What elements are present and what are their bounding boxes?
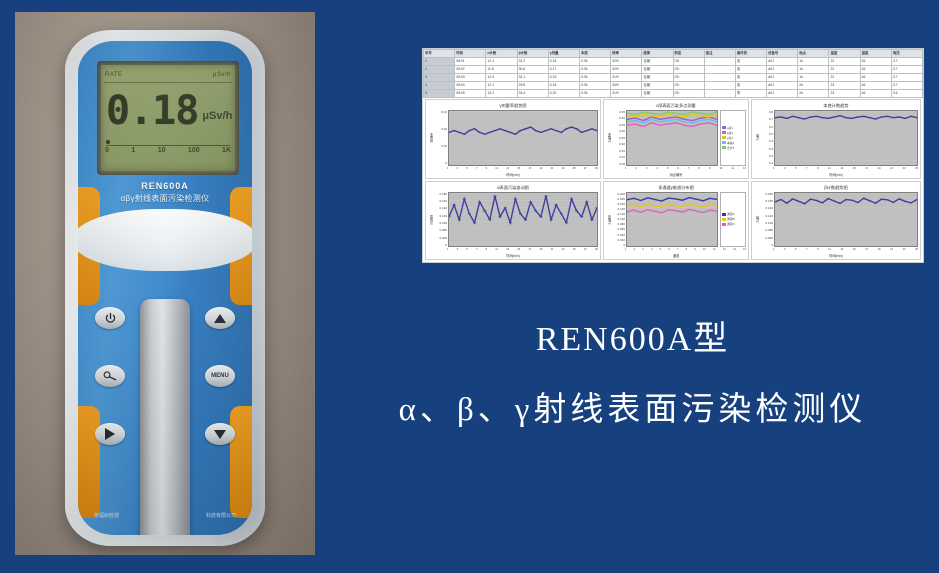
- chart-data-point: [700, 123, 702, 124]
- chart-data-point: [827, 198, 830, 199]
- chart-y-ticks: 0.1800.1600.1400.1200.1000.0800.0600: [761, 192, 774, 248]
- table-cell: 0.18: [548, 82, 579, 90]
- chart-y-tick: 0.5: [761, 132, 773, 136]
- chart-data-point: [642, 112, 644, 113]
- chart-y-tick: 0.1: [761, 161, 773, 165]
- chart-data-point: [695, 210, 697, 211]
- chart-data-point: [821, 202, 824, 203]
- table-cell: A01: [767, 82, 798, 90]
- device-model-label: REN600A: [78, 181, 252, 191]
- chart-data-point: [688, 208, 690, 209]
- chart-data-point: [509, 132, 512, 133]
- chart-y-axis-label: 污染值: [428, 192, 435, 248]
- table-row: 308:0312.932.10.190.0531%合格OK-张A011#2246…: [424, 74, 923, 82]
- chart-y-axis-label: 计数率: [606, 110, 613, 166]
- chart-y-tick: 0.20: [435, 127, 447, 131]
- chart-data-point: [667, 114, 669, 115]
- chart-data-point: [797, 117, 800, 118]
- menu-button[interactable]: MENU: [205, 365, 235, 387]
- chart-y-tick: 0.10: [435, 144, 447, 148]
- table-cell: 0.20: [548, 90, 579, 98]
- table-cell: A01: [767, 58, 798, 66]
- table-cell: -: [704, 90, 735, 98]
- chart-data-point: [821, 117, 824, 118]
- table-cell: 3.7: [891, 66, 922, 74]
- chart-legend-swatch: [722, 136, 726, 139]
- chart-legend-label: 本底4: [727, 141, 734, 145]
- chart-legend-item: γ点3: [722, 136, 744, 140]
- table-cell: 3: [424, 74, 455, 82]
- table-header-cell: 操作员: [735, 50, 766, 58]
- table-cell: 2: [424, 66, 455, 74]
- chart-data-point: [493, 130, 496, 131]
- lcd-screen: RATE μSv/h 0.18 μSv/h 0 1 10: [101, 65, 235, 171]
- table-row: 208:0211.830.60.170.0532%合格OK-张A011#2245…: [424, 66, 923, 74]
- chart-y-tick: 0.7: [761, 117, 773, 121]
- chart-data-point: [642, 120, 644, 121]
- chart-data-point: [633, 209, 635, 210]
- chart-legend-swatch: [722, 131, 726, 134]
- chart-data-point: [868, 117, 871, 118]
- chart-body: 计数率0.2000.1800.1600.1400.1200.1000.0800.…: [606, 192, 746, 248]
- table-header-cell: 序号: [424, 50, 455, 58]
- chart-data-point: [833, 200, 836, 201]
- chart-data-point: [585, 130, 588, 131]
- chart-y-tick: 0.140: [761, 206, 773, 210]
- chart-data-point: [642, 114, 644, 115]
- table-cell: 合格: [642, 74, 673, 82]
- chart-data-point: [580, 132, 583, 133]
- chart-legend-item: 通道B: [722, 217, 744, 221]
- table-header-cell: 电压: [891, 50, 922, 58]
- device-brand-plate: REN600A αβγ射线表面污染检测仪: [78, 181, 252, 204]
- chart-data-point: [468, 130, 471, 131]
- chart-data-point: [850, 118, 853, 119]
- chart-data-point: [514, 134, 517, 135]
- table-cell: A01: [767, 74, 798, 82]
- chart-data-point: [659, 125, 661, 126]
- chart-data-point: [634, 114, 636, 115]
- lcd-scale-0: 0: [105, 147, 109, 159]
- chart-data-point: [886, 116, 889, 117]
- chart-plot-area: [448, 192, 598, 248]
- table-cell: 合格: [642, 66, 673, 74]
- chart-data-point: [803, 118, 806, 119]
- chart-data-point: [468, 213, 471, 214]
- lcd-scale-4: 1K: [222, 147, 231, 159]
- table-header-cell: 判定: [673, 50, 704, 58]
- chart-legend-swatch: [722, 213, 726, 216]
- table-cell: 22: [829, 58, 860, 66]
- chart-data-point: [898, 198, 901, 199]
- chart-y-tick: 0.140: [613, 207, 625, 211]
- chart-y-tick: 0: [613, 243, 625, 247]
- chart-data-point: [892, 117, 895, 118]
- table-header-cell: α计数: [486, 50, 517, 58]
- device-waist-band: [78, 209, 252, 271]
- play-button[interactable]: [95, 423, 125, 445]
- table-cell: 23: [829, 90, 860, 98]
- chart-data-point: [691, 126, 693, 127]
- chart-data-point: [483, 134, 486, 135]
- chart-data-point: [580, 216, 583, 217]
- chart-series-line: [627, 123, 717, 127]
- chart-series-svg: [627, 111, 717, 165]
- table-cell: 2#: [798, 82, 829, 90]
- chart-data-point: [708, 122, 710, 123]
- table-cell: 2#: [798, 90, 829, 98]
- lcd-status-row: RATE μSv/h: [105, 68, 231, 81]
- chart-data-point: [478, 201, 481, 202]
- chart-data-point: [700, 120, 702, 121]
- table-cell: 张: [735, 66, 766, 74]
- table-cell: 22: [829, 66, 860, 74]
- chart-data-point: [691, 122, 693, 123]
- chart-y-axis-label: 计数率: [606, 192, 613, 248]
- chart-data-point: [514, 198, 517, 199]
- chart-data-point: [702, 211, 704, 212]
- lcd-bezel: RATE μSv/h 0.18 μSv/h 0 1 10: [97, 61, 239, 175]
- search-button[interactable]: [95, 365, 125, 387]
- table-header-cell: 地点: [798, 50, 829, 58]
- chart-x-axis-label: 时间(min): [426, 253, 600, 259]
- chart-data-point: [565, 222, 568, 223]
- chart-data-point: [674, 204, 676, 205]
- chart-legend-item: β点2: [722, 131, 744, 135]
- chart-y-tick: 0.30: [435, 110, 447, 114]
- table-header-cell: 备注: [704, 50, 735, 58]
- chart-legend-label: 通道C: [727, 222, 735, 226]
- chart-x-axis-label: 通道: [604, 253, 748, 259]
- chart-data-point: [683, 121, 685, 122]
- table-row: 508:0513.233.40.200.0531%合格OK-李A012#2346…: [424, 90, 923, 98]
- chart-body: 计数0.80.70.60.50.40.30.20.1: [754, 110, 918, 166]
- chart-series-line: [627, 112, 717, 114]
- chart-data-point: [634, 120, 636, 121]
- lcd-scale-1: 1: [131, 147, 135, 159]
- table-cell: 张: [735, 74, 766, 82]
- chart-data-point: [695, 204, 697, 205]
- chart-data-point: [504, 130, 507, 131]
- chart-data-point: [809, 116, 812, 117]
- chart-legend: 通道A通道B通道C: [720, 192, 746, 248]
- device-handle: [140, 299, 190, 535]
- chart-data-point: [570, 198, 573, 199]
- table-cell: 23: [829, 82, 860, 90]
- table-cell: 5: [424, 90, 455, 98]
- chart-data-point: [785, 202, 788, 203]
- table-cell: 32%: [611, 66, 642, 74]
- table-cell: 12.1: [486, 82, 517, 90]
- chart-data-point: [590, 128, 593, 129]
- chart-y-tick: 0.35: [613, 123, 625, 127]
- chart-data-point: [640, 206, 642, 207]
- table-cell: 29.8: [517, 82, 548, 90]
- table-cell: 11.8: [486, 66, 517, 74]
- chart-data-point: [458, 219, 461, 220]
- up-button[interactable]: [205, 307, 235, 329]
- chart-data-point: [651, 115, 653, 116]
- power-icon: [104, 312, 117, 325]
- chart-y-ticks: 0.1800.1600.1400.1200.1000.0800.0600: [435, 192, 448, 248]
- table-header-cell: β计数: [517, 50, 548, 58]
- chart-legend-swatch: [722, 146, 726, 149]
- chart-y-tick: 0.8: [761, 110, 773, 114]
- chart-data-point: [463, 134, 466, 135]
- chart-legend-label: γ点3: [727, 136, 733, 140]
- table-row: 408:0412.129.80.180.0533%合格OK-张A012#2346…: [424, 82, 923, 90]
- chart-data-point: [667, 112, 669, 113]
- chart-y-tick: 0.15: [613, 149, 625, 153]
- chart-data-point: [779, 198, 782, 199]
- power-button[interactable]: [95, 307, 125, 329]
- table-cell: 32.1: [517, 74, 548, 82]
- chart-title: α/β表面污染多点测量: [604, 103, 748, 109]
- chart-data-point: [702, 200, 704, 201]
- chart-data-point: [565, 128, 568, 129]
- chart-data-point: [839, 202, 842, 203]
- chart-x-axis-label: 时间(min): [752, 253, 920, 259]
- chart-data-point: [519, 213, 522, 214]
- chart-data-point: [504, 207, 507, 208]
- chart-data-point: [904, 200, 907, 201]
- chart-y-tick: 0.05: [613, 162, 625, 166]
- chart-data-point: [651, 119, 653, 120]
- table-cell: OK: [673, 82, 704, 90]
- chart-legend-item: 通道C: [722, 222, 744, 226]
- chart-legend-swatch: [722, 141, 726, 144]
- chart-legend: α点1β点2γ点3本底4合计5: [720, 110, 746, 166]
- chart-y-tick: 0.060: [761, 236, 773, 240]
- chart-data-point: [478, 132, 481, 133]
- chart-data-point: [560, 213, 563, 214]
- chart-legend-item: 通道A: [722, 212, 744, 216]
- chart-data-point: [473, 128, 476, 129]
- chart-data-point: [529, 126, 532, 127]
- chart-plot-area: [448, 110, 598, 166]
- chart-title: γ剂量率趋势图: [426, 103, 600, 109]
- table-cell: A01: [767, 66, 798, 74]
- table-header-cell: 设备号: [767, 50, 798, 58]
- chart-data-point: [886, 199, 889, 200]
- chart-data-point: [898, 116, 901, 117]
- table-cell: 合格: [642, 90, 673, 98]
- chart-series-svg: [449, 193, 597, 247]
- chart-data-point: [555, 130, 558, 131]
- chart-y-tick: 0.100: [613, 217, 625, 221]
- chart-data-point: [634, 116, 636, 117]
- chart-y-tick: 0.060: [435, 236, 447, 240]
- chart-data-point: [633, 197, 635, 198]
- chart-data-point: [868, 200, 871, 201]
- table-cell: OK: [673, 58, 704, 66]
- table-cell: 0.17: [548, 66, 579, 74]
- chart-data-point: [874, 118, 877, 119]
- chart-y-tick: 0.20: [613, 142, 625, 146]
- chart-data-point: [640, 211, 642, 212]
- chart-data-point: [675, 113, 677, 114]
- chart-data-point: [904, 118, 907, 119]
- chart-data-point: [651, 113, 653, 114]
- chart-y-tick: 0.080: [613, 222, 625, 226]
- chart-data-point: [709, 209, 711, 210]
- chart-data-point: [634, 118, 636, 119]
- chart-data-point: [700, 118, 702, 119]
- chart-data-point: [539, 216, 542, 217]
- table-header-cell: 湿度: [860, 50, 891, 58]
- chart-data-point: [675, 122, 677, 123]
- chart-data-point: [595, 207, 597, 208]
- chart-data-point: [833, 116, 836, 117]
- chart-data-point: [675, 115, 677, 116]
- table-cell: 46: [860, 82, 891, 90]
- chart-title: β计数趋势图: [752, 185, 920, 191]
- table-cell: 32%: [611, 58, 642, 66]
- table-cell: 0.05: [579, 74, 610, 82]
- chart-data-point: [681, 199, 683, 200]
- chart-data-point: [683, 114, 685, 115]
- chart-card: α/β表面污染多点测量计数率0.450.400.350.300.250.200.…: [603, 99, 749, 179]
- chart-data-point: [709, 204, 711, 205]
- measurement-data-table: 序号时间α计数β计数γ剂量本底效率结果判定备注操作员设备号地点温度湿度电压108…: [423, 49, 923, 98]
- chart-data-point: [688, 203, 690, 204]
- chart-data-point: [642, 122, 644, 123]
- chart-data-point: [661, 206, 663, 207]
- chart-data-point: [647, 203, 649, 204]
- chart-y-ticks: 0.300.200.100: [435, 110, 448, 166]
- chart-data-point: [463, 198, 466, 199]
- chart-data-point: [681, 211, 683, 212]
- chart-data-point: [691, 114, 693, 115]
- chart-data-point: [850, 199, 853, 200]
- chart-y-tick: 0.140: [435, 206, 447, 210]
- table-header-cell: 效率: [611, 50, 642, 58]
- table-cell: 0.05: [579, 66, 610, 74]
- table-cell: -: [704, 58, 735, 66]
- triangle-down-icon: [214, 430, 226, 439]
- chart-data-point: [709, 197, 711, 198]
- chart-series-svg: [627, 193, 717, 247]
- table-cell: 46: [860, 74, 891, 82]
- chart-y-tick: 0.30: [613, 129, 625, 133]
- table-cell: 45: [860, 58, 891, 66]
- chart-y-tick: 0.180: [435, 192, 447, 196]
- table-cell: 31%: [611, 90, 642, 98]
- lcd-status-left: RATE: [105, 72, 123, 78]
- chart-data-point: [642, 126, 644, 127]
- chart-body: 剂量率0.300.200.100: [428, 110, 598, 166]
- chart-data-point: [785, 118, 788, 119]
- chart-data-point: [452, 204, 455, 205]
- chart-y-tick: 0.120: [613, 212, 625, 216]
- chart-body: 计数0.1800.1600.1400.1200.1000.0800.0600: [754, 192, 918, 248]
- chart-legend-label: α点1: [727, 126, 733, 130]
- chart-y-tick: 0.020: [613, 238, 625, 242]
- lcd-unit: μSv/h: [202, 110, 232, 122]
- chart-series-line: [449, 127, 597, 134]
- table-cell: 3.7: [891, 58, 922, 66]
- chart-y-tick: 0.6: [761, 125, 773, 129]
- chart-data-point: [654, 210, 656, 211]
- table-cell: 张: [735, 58, 766, 66]
- table-cell: -: [704, 82, 735, 90]
- chart-legend-label: 合计5: [727, 146, 734, 150]
- chart-data-point: [493, 195, 496, 196]
- table-header-cell: 结果: [642, 50, 673, 58]
- table-cell: 1#: [798, 66, 829, 74]
- chart-data-point: [708, 114, 710, 115]
- chart-title: 多通道γ能谱分布图: [604, 185, 748, 191]
- table-cell: 46: [860, 90, 891, 98]
- chart-card: β计数趋势图计数0.1800.1600.1400.1200.1000.0800.…: [751, 181, 921, 261]
- down-button[interactable]: [205, 423, 235, 445]
- chart-data-point: [691, 120, 693, 121]
- search-icon: [103, 370, 118, 382]
- table-cell: 08:03: [455, 74, 486, 82]
- chart-body: 污染值0.1800.1600.1400.1200.1000.0800.0600: [428, 192, 598, 248]
- chart-legend-label: β点2: [727, 131, 733, 135]
- chart-data-point: [839, 115, 842, 116]
- chart-y-tick: 0.100: [761, 221, 773, 225]
- table-header-cell: 本底: [579, 50, 610, 58]
- table-header-cell: γ剂量: [548, 50, 579, 58]
- chart-data-point: [708, 119, 710, 120]
- lcd-scale-3: 100: [188, 147, 200, 159]
- chart-y-tick: 0.160: [761, 199, 773, 203]
- table-cell: 45: [860, 66, 891, 74]
- lcd-scale-labels: 0 1 10 100 1K: [105, 147, 231, 159]
- chart-data-point: [691, 112, 693, 113]
- chart-data-point: [661, 212, 663, 213]
- chart-data-point: [880, 198, 883, 199]
- chart-data-point: [779, 116, 782, 117]
- table-cell: 0.05: [579, 90, 610, 98]
- device-front-panel: RATE μSv/h 0.18 μSv/h 0 1 10: [78, 41, 252, 535]
- chart-data-point: [702, 206, 704, 207]
- chart-data-point: [539, 132, 542, 133]
- chart-data-point: [647, 208, 649, 209]
- chart-data-point: [534, 130, 537, 131]
- chart-data-point: [634, 123, 636, 124]
- chart-card: α表面污染波动图污染值0.1800.1600.1400.1200.1000.08…: [425, 181, 601, 261]
- device-footer-left: 核辐射检测: [94, 512, 119, 519]
- table-cell: OK: [673, 66, 704, 74]
- chart-data-point: [651, 122, 653, 123]
- chart-y-tick: 0.2: [761, 154, 773, 158]
- lcd-status-right: μSv/h: [213, 72, 231, 78]
- chart-data-point: [683, 125, 685, 126]
- chart-data-point: [791, 116, 794, 117]
- caption-line-1: REN600A型: [330, 318, 935, 362]
- chart-x-axis-label: 测点编号: [604, 172, 748, 178]
- chart-data-point: [640, 199, 642, 200]
- chart-y-tick: 0: [761, 243, 773, 247]
- chart-data-point: [544, 130, 547, 131]
- chart-data-point: [575, 210, 578, 211]
- menu-button-label: MENU: [211, 373, 229, 379]
- table-cell: 08:02: [455, 66, 486, 74]
- chart-data-point: [524, 128, 527, 129]
- chart-data-point: [862, 197, 865, 198]
- table-cell: 0.05: [579, 58, 610, 66]
- chart-data-point: [529, 201, 532, 202]
- chart-y-tick: 0.080: [435, 228, 447, 232]
- chart-y-tick: 0.200: [613, 192, 625, 196]
- chart-data-point: [708, 116, 710, 117]
- chart-data-point: [668, 197, 670, 198]
- table-cell: 合格: [642, 58, 673, 66]
- chart-data-point: [555, 204, 558, 205]
